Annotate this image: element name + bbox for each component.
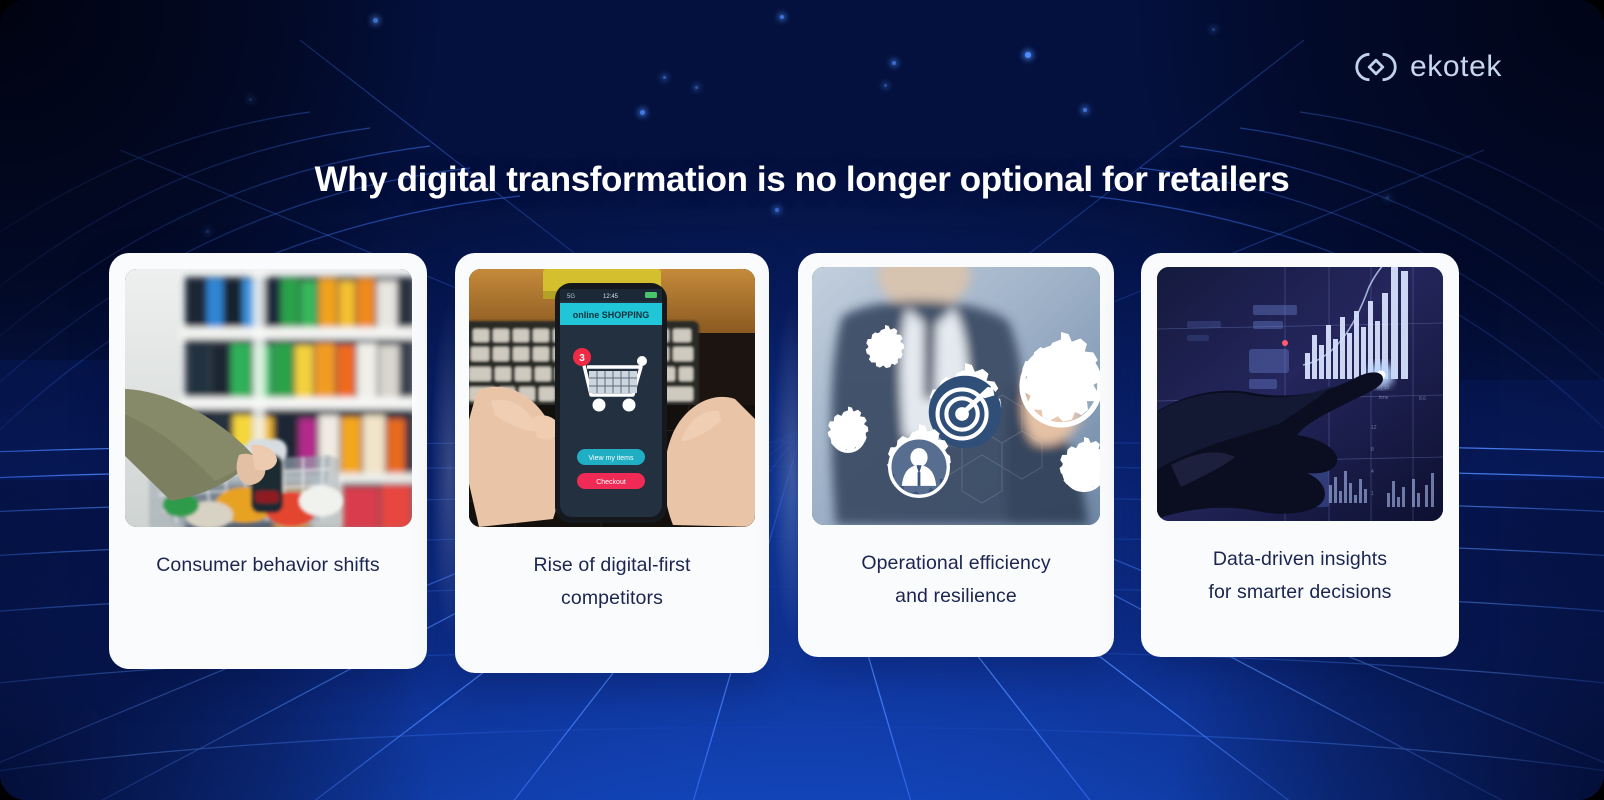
svg-text:3: 3 — [579, 353, 585, 364]
supermarket-shopping-cart-photo — [125, 269, 412, 527]
feature-card-caption: Data-driven insights for smarter decisio… — [1194, 543, 1405, 609]
caption-line: for smarter decisions — [1208, 576, 1391, 609]
feature-card-digital-first[interactable]: 5G 12:45 online SHOPPING — [455, 253, 769, 673]
caption-line: competitors — [533, 582, 690, 615]
ekotek-infinity-mark-icon — [1355, 46, 1397, 88]
slide-canvas: ekotek Why digital transformation is no … — [0, 0, 1604, 800]
svg-text:5G: 5G — [567, 294, 575, 300]
svg-text:Checkout: Checkout — [596, 479, 626, 486]
feature-card-caption: Rise of digital-first competitors — [519, 549, 704, 615]
svg-text:time: time — [1379, 395, 1389, 401]
svg-text:12:45: 12:45 — [603, 294, 619, 300]
svg-text:4: 4 — [1371, 469, 1374, 475]
feature-card-consumer-behavior[interactable]: Consumer behavior shifts — [109, 253, 427, 669]
svg-text:View my items: View my items — [589, 455, 634, 462]
caption-line: and resilience — [861, 580, 1050, 613]
caption-line: Consumer behavior shifts — [156, 549, 380, 582]
feature-card-operational-efficiency[interactable]: Operational efficiency and resilience — [798, 253, 1114, 657]
feature-card-caption: Consumer behavior shifts — [142, 549, 394, 582]
brand-logo[interactable]: ekotek — [1355, 46, 1502, 88]
caption-line: Data-driven insights — [1208, 543, 1391, 576]
mobile-online-shopping-photo: 5G 12:45 online SHOPPING — [469, 269, 755, 527]
gears-business-icons-photo — [812, 267, 1100, 525]
svg-text:12: 12 — [1371, 425, 1377, 431]
feature-card-row: Consumer behavior shifts — [0, 0, 1604, 800]
svg-text:8.6: 8.6 — [1419, 396, 1426, 402]
feature-card-data-driven-insights[interactable]: 8 | 10 time 8.6 12 8 4 1 — [1141, 253, 1459, 657]
svg-text:8: 8 — [1371, 447, 1374, 453]
svg-text:online SHOPPING: online SHOPPING — [573, 310, 650, 320]
feature-card-caption: Operational efficiency and resilience — [847, 547, 1064, 613]
data-dashboard-touchscreen-photo: 8 | 10 time 8.6 12 8 4 1 — [1157, 267, 1443, 521]
page-title: Why digital transformation is no longer … — [0, 160, 1604, 200]
caption-line: Rise of digital-first — [533, 549, 690, 582]
svg-text:1: 1 — [1371, 491, 1374, 497]
caption-line: Operational efficiency — [861, 547, 1050, 580]
brand-wordmark: ekotek — [1410, 52, 1502, 82]
